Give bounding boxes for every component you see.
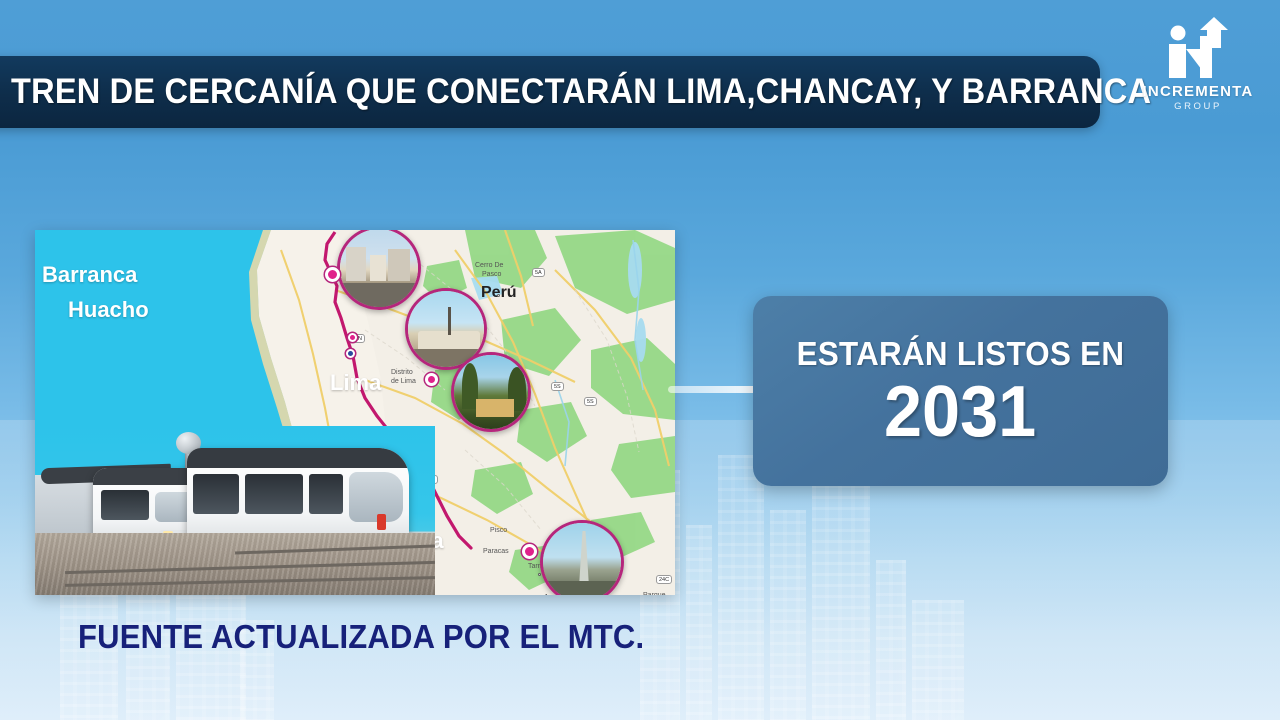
map-city-dot <box>538 573 541 576</box>
source-caption: FUENTE ACTUALIZADA POR EL MTC. <box>78 618 644 656</box>
map-photo-inset <box>540 520 624 595</box>
route-stop-south <box>522 544 537 559</box>
route-stop-huacho <box>348 333 357 342</box>
map-city-dot <box>497 294 500 297</box>
n-arrow-up-icon <box>1156 16 1240 82</box>
map-city-huacho: Huacho <box>68 297 149 323</box>
map-detail-label: Pasco <box>482 271 501 278</box>
map-detail-label: de Lima <box>391 378 416 385</box>
road-shield: 5A <box>532 268 545 277</box>
map-country-label: Perú <box>481 284 517 302</box>
callout-line-1: ESTARÁN LISTOS EN <box>797 335 1125 373</box>
map-detail-label: Cerro De <box>475 262 503 269</box>
route-map: 1N 5N 5A 5S 5S 26A 24C 1S 1S 32A 32A 1S … <box>35 230 675 595</box>
callout-year: 2031 <box>884 377 1036 448</box>
map-detail-label: Paracas <box>483 548 509 555</box>
page-title-bar: TREN DE CERCANÍA QUE CONECTARÁN LIMA,CHA… <box>0 56 1100 128</box>
map-detail-label: Parque <box>643 592 666 595</box>
route-stop-secondary <box>346 349 355 358</box>
map-detail-label: Distrito <box>391 369 413 376</box>
route-stop-barranca <box>325 267 340 282</box>
map-detail-label: Pisco <box>490 527 507 534</box>
map-city-lima: Lima <box>330 370 381 396</box>
map-city-barranca: Barranca <box>42 262 137 288</box>
map-photo-inset <box>451 352 531 432</box>
ready-year-callout: ESTARÁN LISTOS EN 2031 <box>753 296 1168 486</box>
road-shield: 5S <box>584 397 597 406</box>
page-title: TREN DE CERCANÍA QUE CONECTARÁN LIMA,CHA… <box>0 72 1151 112</box>
logo-subtitle: GROUP <box>1174 101 1222 112</box>
route-stop-lima <box>425 373 438 386</box>
brand-logo: INCREMENTA GROUP <box>1134 16 1262 124</box>
road-shield: 24C <box>656 575 672 584</box>
train-photo <box>35 426 435 595</box>
logo-name: INCREMENTA <box>1143 83 1254 100</box>
road-shield: 5S <box>551 382 564 391</box>
